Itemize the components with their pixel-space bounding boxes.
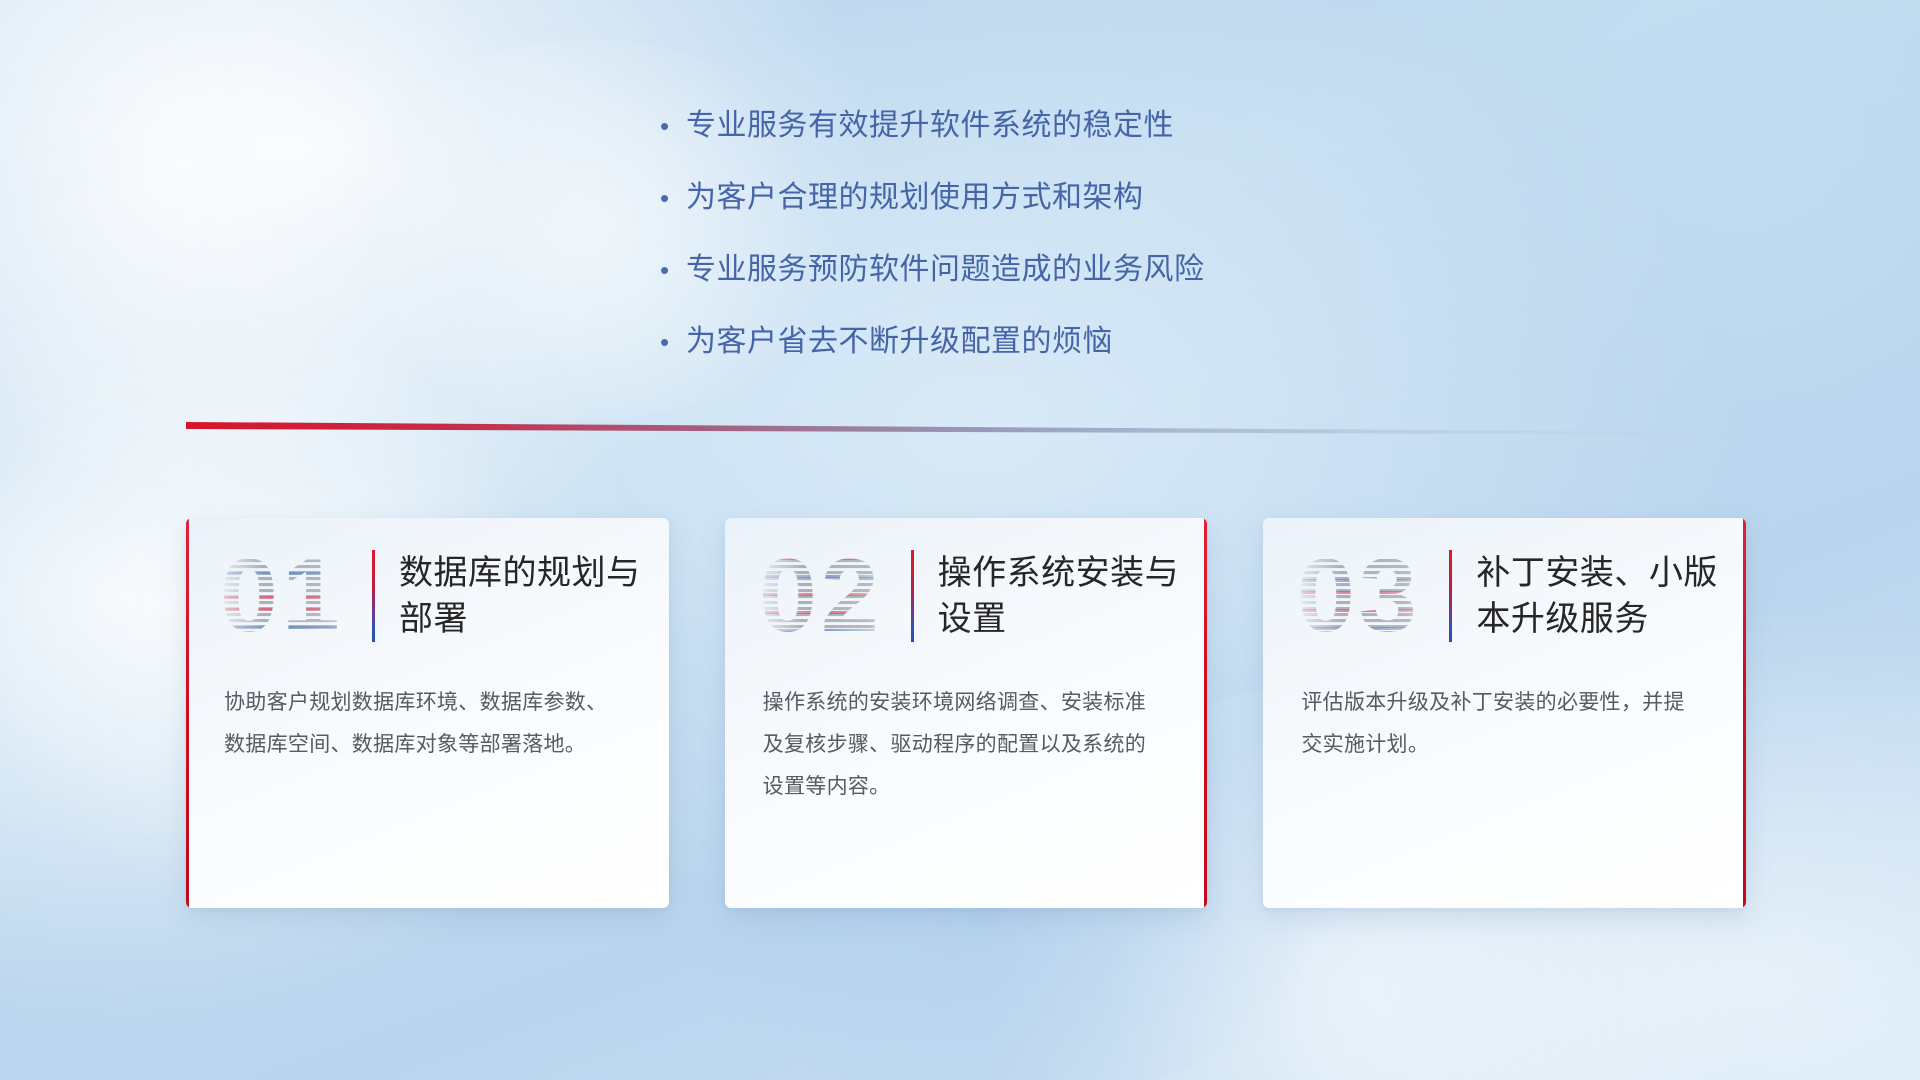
card-body-text: 协助客户规划数据库环境、数据库参数、数据库空间、数据库对象等部署落地。 — [186, 640, 669, 766]
card-body-text: 评估版本升级及补丁安装的必要性，并提交实施计划。 — [1263, 640, 1746, 766]
list-item: • 为客户省去不断升级配置的烦恼 — [660, 321, 1420, 363]
card-number-graphic: 02 — [759, 541, 903, 645]
list-item: • 专业服务有效提升软件系统的稳定性 — [660, 105, 1420, 147]
card-rule-divider — [911, 550, 914, 642]
card-accent-bar — [1204, 518, 1207, 908]
card-title: 补丁安装、小版本升级服务 — [1476, 550, 1720, 642]
section-divider — [186, 420, 1746, 442]
card-title: 操作系统安装与设置 — [938, 550, 1182, 642]
card-header: 03 — [1263, 518, 1746, 640]
list-item: • 专业服务预防软件问题造成的业务风险 — [660, 249, 1420, 291]
background-glow-top-right — [1430, 0, 1920, 400]
bullet-dot-icon: • — [660, 249, 686, 291]
bullet-text: 为客户合理的规划使用方式和架构 — [686, 177, 1144, 219]
card-number-graphic: 03 — [1297, 541, 1441, 645]
card-header: 02 — [725, 518, 1208, 640]
bullet-text: 为客户省去不断升级配置的烦恼 — [686, 321, 1113, 363]
bullet-text: 专业服务预防软件问题造成的业务风险 — [686, 249, 1205, 291]
bullet-dot-icon: • — [660, 321, 686, 363]
list-item: • 为客户合理的规划使用方式和架构 — [660, 177, 1420, 219]
card-accent-bar — [1743, 518, 1746, 908]
card-rule-divider — [1449, 550, 1452, 642]
service-card-03[interactable]: 03 — [1263, 518, 1746, 908]
bullet-dot-icon: • — [660, 105, 686, 147]
card-title: 数据库的规划与部署 — [399, 550, 643, 642]
service-card-01[interactable]: 01 — [186, 518, 669, 908]
service-card-02[interactable]: 02 — [725, 518, 1208, 908]
card-rule-divider — [372, 550, 375, 642]
service-card-list: 01 — [186, 518, 1746, 908]
bullet-list: • 专业服务有效提升软件系统的稳定性 • 为客户合理的规划使用方式和架构 • 专… — [660, 105, 1420, 393]
card-header: 01 — [186, 518, 669, 640]
bullet-dot-icon: • — [660, 177, 686, 219]
slide-canvas: • 专业服务有效提升软件系统的稳定性 • 为客户合理的规划使用方式和架构 • 专… — [0, 0, 1920, 1080]
card-body-text: 操作系统的安装环境网络调查、安装标准及复核步骤、驱动程序的配置以及系统的设置等内… — [725, 640, 1208, 808]
card-number-graphic: 01 — [220, 541, 364, 645]
card-accent-bar — [186, 518, 189, 908]
background-glow-top-left — [0, 0, 540, 480]
bullet-text: 专业服务有效提升软件系统的稳定性 — [686, 105, 1174, 147]
